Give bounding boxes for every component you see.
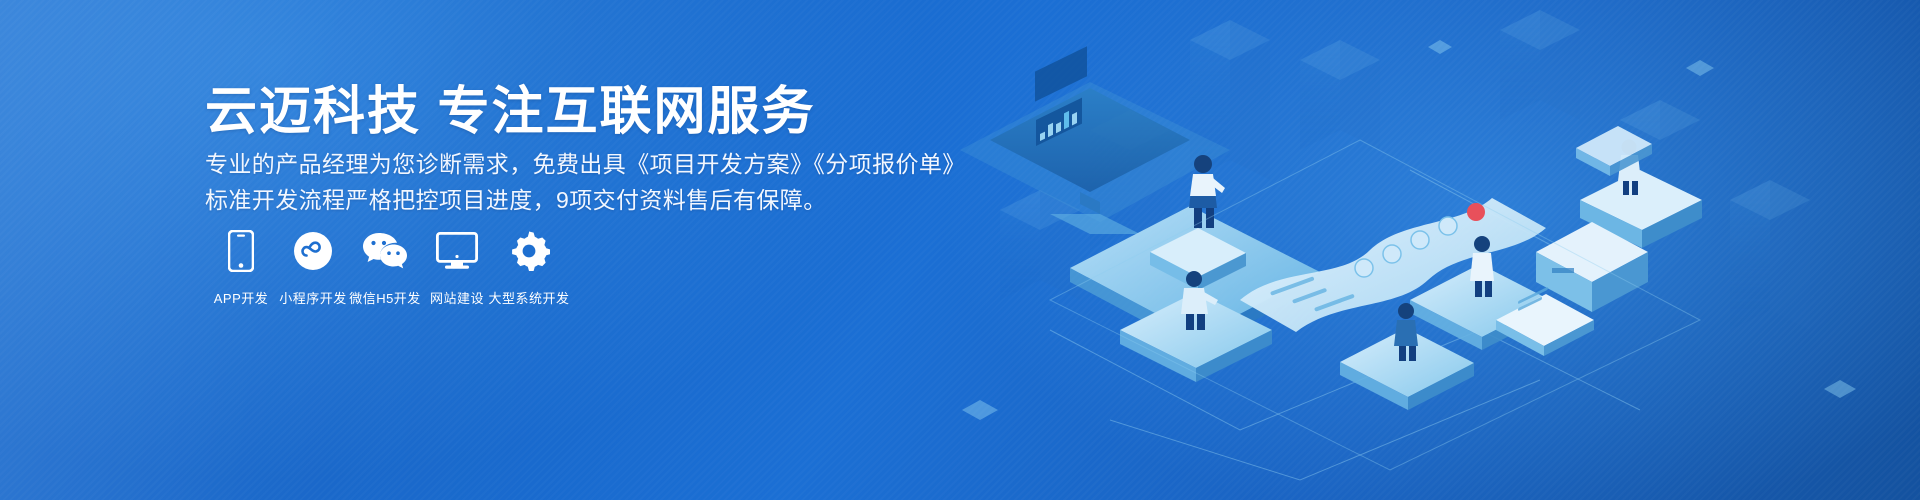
hero-banner: 云迈科技 专注互联网服务 专业的产品经理为您诊断需求，免费出具《项目开发方案》《… xyxy=(0,0,1920,500)
service-label: APP开发 xyxy=(214,288,269,307)
service-list: APP开发 小程序开发 xyxy=(205,228,565,307)
banner-content: 云迈科技 专注互联网服务 专业的产品经理为您诊断需求，免费出具《项目开发方案》《… xyxy=(205,0,905,500)
mobile-phone-icon xyxy=(228,228,254,274)
service-label: 小程序开发 xyxy=(279,288,347,307)
banner-subtitle-line-2: 标准开发流程严格把控项目进度，9项交付资料售后有保障。 xyxy=(205,181,827,215)
monitor-icon xyxy=(436,228,478,274)
service-item-large-system[interactable]: 大型系统开发 xyxy=(493,228,565,307)
service-label: 网站建设 xyxy=(430,288,484,307)
gear-icon xyxy=(508,228,550,274)
service-item-website[interactable]: 网站建设 xyxy=(421,228,493,307)
service-item-wechat-h5[interactable]: 微信H5开发 xyxy=(349,228,421,307)
isometric-illustration xyxy=(940,0,1920,500)
page-title: 云迈科技 专注互联网服务 xyxy=(205,69,815,144)
service-label: 大型系统开发 xyxy=(489,288,570,307)
banner-subtitle-line-1: 专业的产品经理为您诊断需求，免费出具《项目开发方案》《分项报价单》 xyxy=(205,145,966,179)
wechat-icon xyxy=(362,228,408,274)
mini-program-icon xyxy=(293,228,333,274)
service-item-mini-program[interactable]: 小程序开发 xyxy=(277,228,349,307)
service-label: 微信H5开发 xyxy=(349,288,421,307)
service-item-app[interactable]: APP开发 xyxy=(205,228,277,307)
